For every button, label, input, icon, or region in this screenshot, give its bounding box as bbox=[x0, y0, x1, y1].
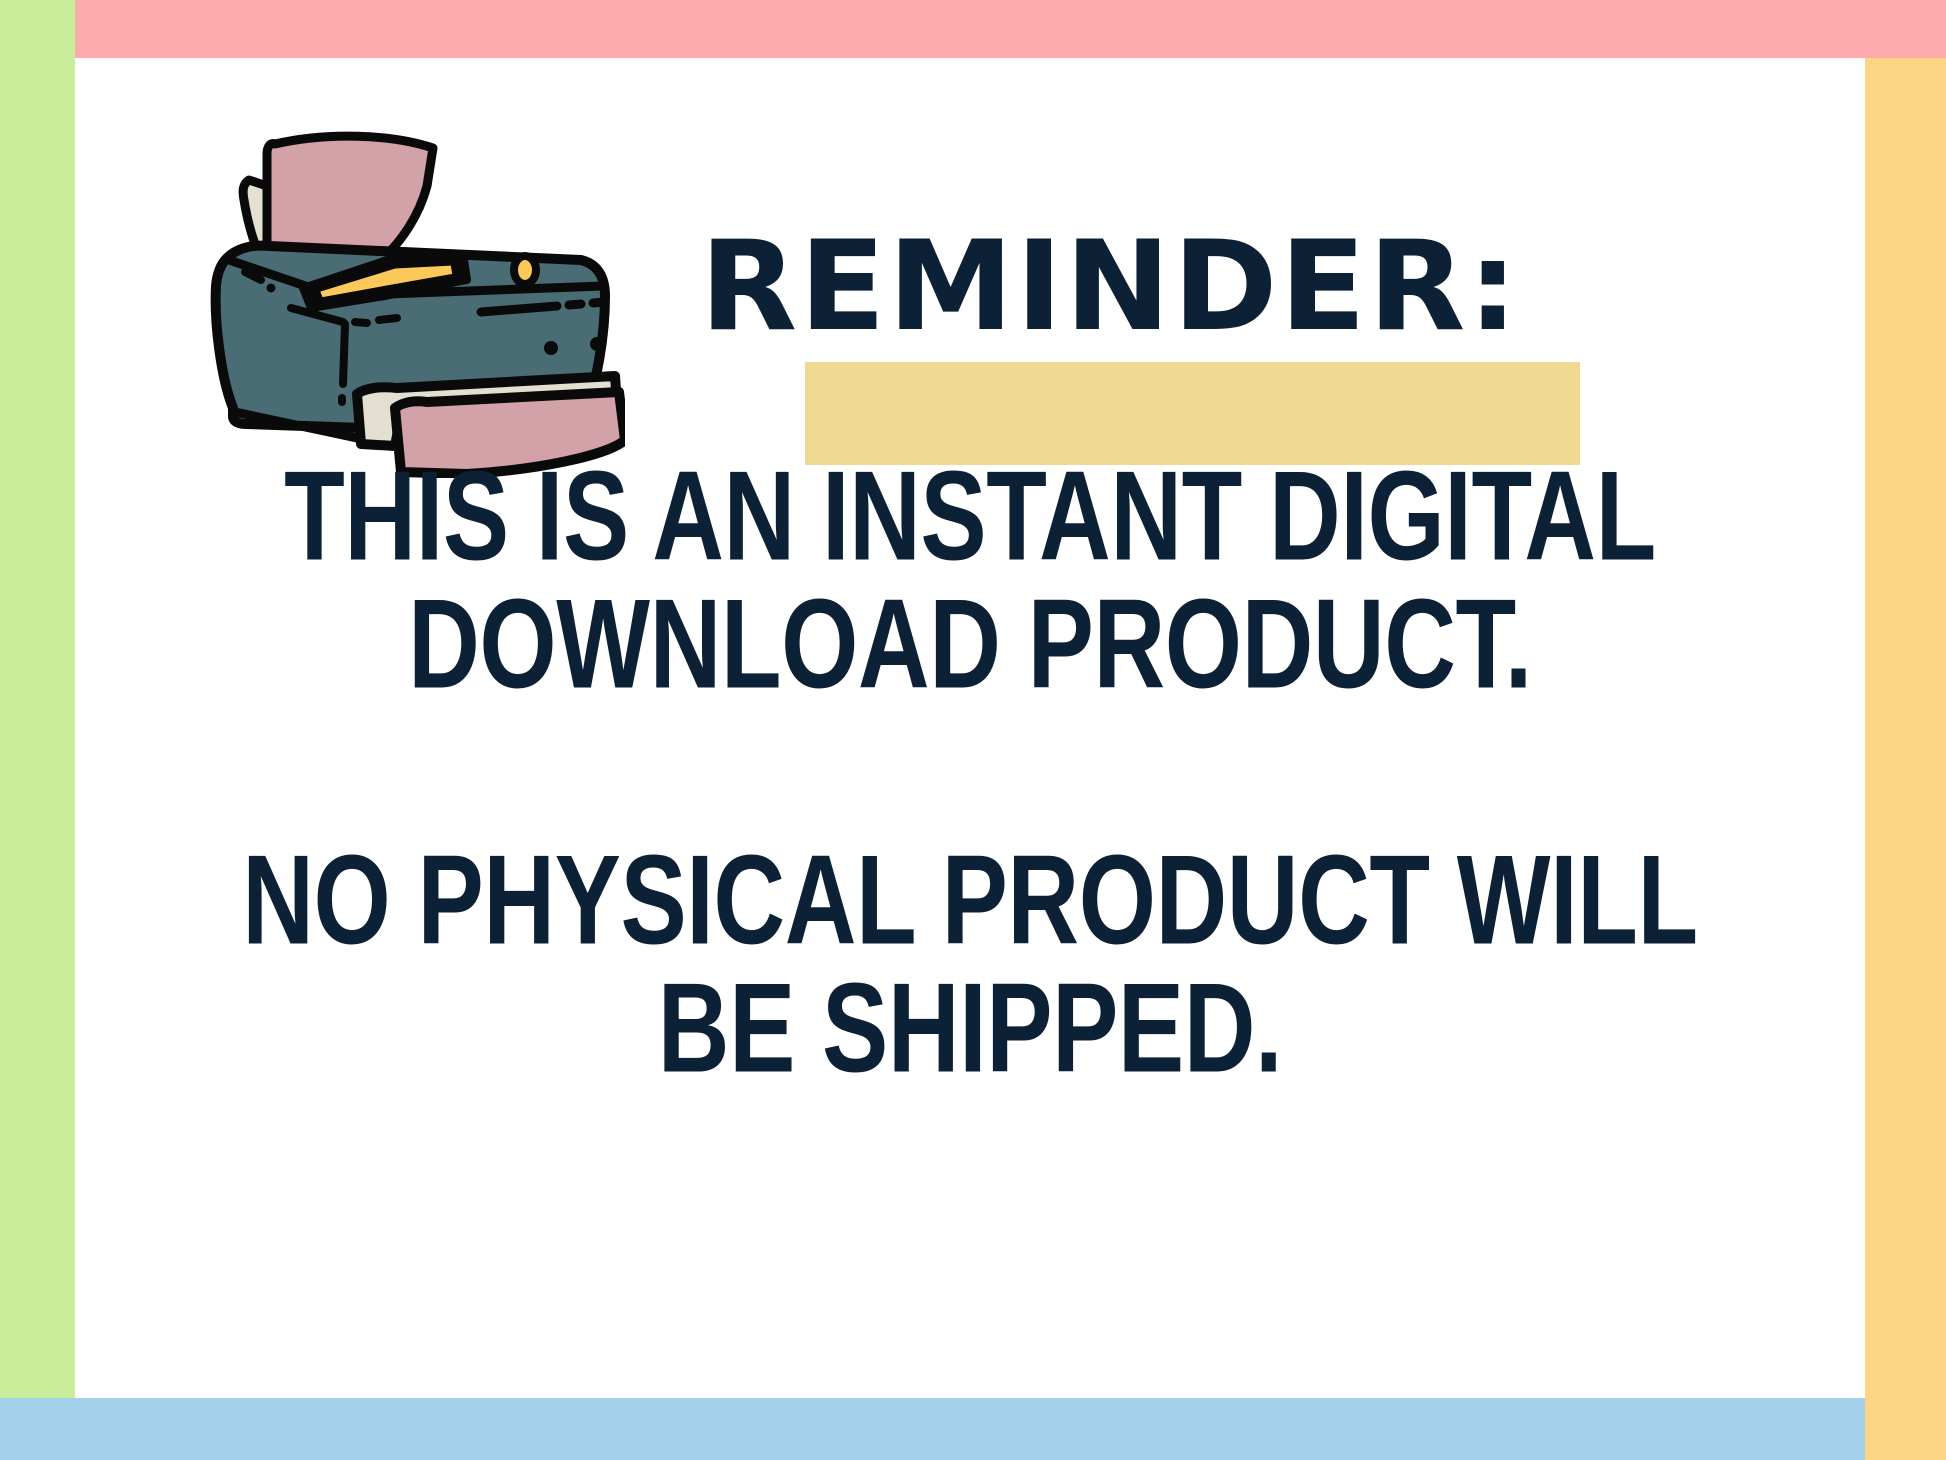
printer-control-line bbox=[481, 306, 557, 312]
paragraph-1: THIS IS AN INSTANT DIGITAL DOWNLOAD PROD… bbox=[75, 452, 1865, 708]
printer-control-dash1 bbox=[569, 304, 581, 305]
page-title: REMINDER: bbox=[631, 225, 1590, 349]
printer-lid-seam-dash1 bbox=[355, 322, 367, 323]
paragraph-spacer bbox=[75, 708, 1865, 836]
body-copy: THIS IS AN INSTANT DIGITAL DOWNLOAD PROD… bbox=[75, 452, 1865, 1092]
printer-button-dot-1 bbox=[544, 341, 558, 355]
top-border-band bbox=[75, 0, 1946, 58]
heading-block: REMINDER: bbox=[640, 225, 1600, 475]
paragraph-2: NO PHYSICAL PRODUCT WILL BE SHIPPED. bbox=[75, 836, 1865, 1092]
body-line-2: DOWNLOAD PRODUCT. bbox=[147, 568, 1794, 719]
printer-lid-seam-dash2 bbox=[379, 318, 397, 320]
body-line-4: BE SHIPPED. bbox=[147, 952, 1794, 1103]
printer-button-dot-2 bbox=[590, 337, 604, 351]
printer-icon bbox=[205, 108, 625, 478]
bottom-border-band bbox=[0, 1398, 1865, 1460]
printer-corner-seam bbox=[343, 324, 345, 384]
printer-indicator-light bbox=[514, 256, 536, 284]
left-border-band bbox=[0, 0, 75, 1398]
printer-left-dot bbox=[267, 284, 276, 293]
printer-control-dash2 bbox=[593, 302, 605, 303]
right-border-band bbox=[1865, 58, 1946, 1460]
